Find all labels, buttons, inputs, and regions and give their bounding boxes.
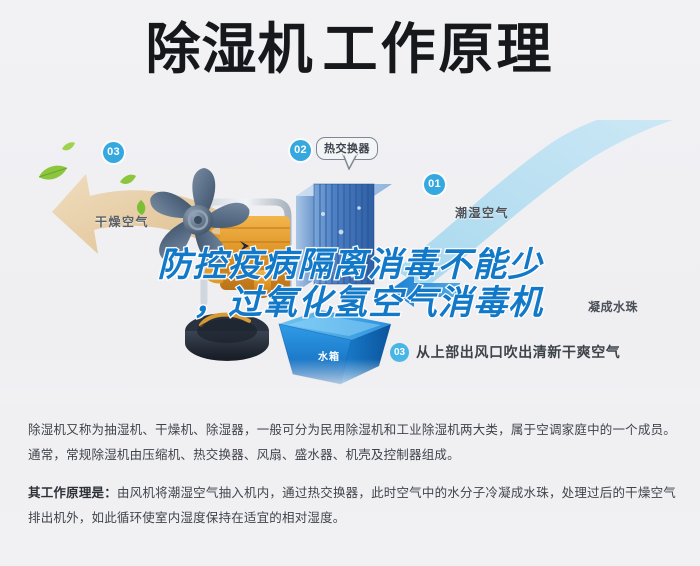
callout-tail-icon	[342, 154, 358, 170]
article-body: 除湿机又称为抽湿机、干燥机、除湿器，一般可分为民用除湿机和工业除湿机两大类，属于…	[28, 418, 676, 531]
step-badge-02: 02	[290, 140, 311, 161]
step-badge-01: 01	[424, 174, 445, 195]
leaf-icon	[120, 174, 136, 186]
page-title-part2: 工作原理	[323, 22, 555, 77]
step-badge-03-caption: 03	[390, 343, 409, 362]
humid-air-label: 潮湿空气	[455, 204, 509, 221]
body-paragraph-2-rest: 由风机将潮湿空气抽入机内，通过热交换器，此时空气中的水分子冷凝成水珠，处理过后的…	[28, 486, 676, 525]
page-title-part1: 除湿机	[145, 22, 313, 77]
fan-icon	[140, 162, 256, 274]
page-title: 除湿机工作原理	[0, 22, 700, 77]
step3-caption-text: 从上部出风口吹出清新干爽空气	[416, 342, 620, 362]
heat-exchanger-block-icon	[296, 170, 392, 298]
body-paragraph-1: 除湿机又称为抽湿机、干燥机、除湿器，一般可分为民用除湿机和工业除湿机两大类，属于…	[28, 418, 676, 468]
condense-label: 凝成水珠	[588, 298, 638, 315]
dehumidifier-diagram: 03 干燥空气 01 潮湿空气 02 热交换器	[0, 120, 700, 405]
leaf-icon	[38, 165, 68, 182]
page-root: 除湿机工作原理 03	[0, 0, 700, 566]
compressor-icon	[175, 305, 279, 365]
step-badge-03: 03	[103, 142, 124, 163]
leaf-icon	[62, 142, 75, 152]
water-tank-label: 水箱	[318, 348, 340, 363]
intake-arrow-icon	[390, 270, 460, 310]
step3-caption-row: 03 从上部出风口吹出清新干爽空气	[390, 342, 620, 362]
body-paragraph-2-label: 其工作原理是：	[28, 486, 117, 500]
body-paragraph-2: 其工作原理是：由风机将潮湿空气抽入机内，通过热交换器，此时空气中的水分子冷凝成水…	[28, 481, 676, 531]
heat-exchanger-callout: 热交换器	[316, 137, 378, 160]
